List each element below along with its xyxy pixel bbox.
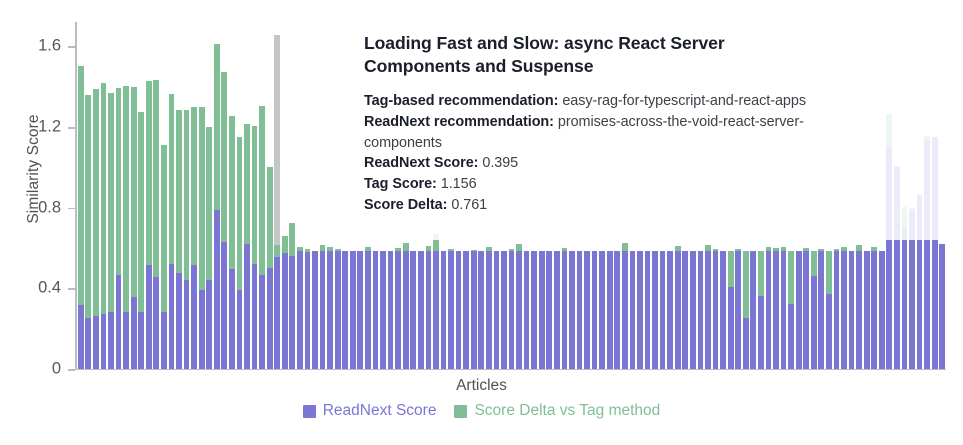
bar-segment-readnext (516, 251, 522, 369)
bar-column[interactable] (131, 22, 137, 369)
legend-item[interactable]: ReadNext Score (303, 402, 437, 420)
bar-column[interactable] (902, 22, 908, 369)
bar-segment-delta (758, 251, 764, 296)
bar-segment-readnext (191, 265, 197, 369)
bar-segment-delta (743, 251, 749, 318)
bar-column[interactable] (153, 22, 159, 369)
bar-segment-readnext (652, 251, 658, 369)
bar-segment-delta (161, 145, 167, 311)
bar-segment-readnext (327, 251, 333, 369)
bar-column[interactable] (274, 22, 280, 369)
bar-segment-readnext (101, 314, 107, 369)
y-axis-tick-mark (68, 46, 75, 48)
bar-segment-delta (176, 110, 182, 273)
bar-segment-readnext (350, 251, 356, 369)
bar-segment-delta (169, 94, 175, 264)
bar-column[interactable] (108, 22, 114, 369)
bar-segment-readnext (864, 251, 870, 369)
bar-segment-delta (78, 66, 84, 305)
bar-segment-delta (199, 107, 205, 291)
bar-segment-delta (85, 95, 91, 318)
bar-segment-delta (116, 88, 122, 276)
bar-segment-readnext (902, 229, 908, 369)
bar-segment-readnext (660, 251, 666, 369)
y-axis-tick-label: 0 (52, 360, 61, 379)
chart-tooltip: Loading Fast and Slow: async React Serve… (364, 24, 856, 215)
bar-segment-readnext (335, 251, 341, 369)
bar-segment-delta (146, 81, 152, 266)
y-axis-tick-label: 0.4 (38, 279, 61, 298)
tooltip-row-label: Score Delta: (364, 197, 447, 213)
bar-column[interactable] (335, 22, 341, 369)
bar-segment-readnext (577, 251, 583, 369)
bar-segment-readnext (85, 318, 91, 369)
bar-segment-delta (101, 83, 107, 314)
bar-segment-delta (184, 110, 190, 280)
tooltip-row: Tag Score: 1.156 (364, 174, 856, 195)
bar-segment-readnext (788, 304, 794, 369)
bar-column[interactable] (123, 22, 129, 369)
bar-segment-readnext (735, 251, 741, 369)
bar-segment-readnext (486, 251, 492, 369)
bar-segment-delta (123, 86, 129, 312)
y-axis-tick-label: 1.2 (38, 117, 61, 136)
bar-segment-readnext (93, 316, 99, 369)
bar-column[interactable] (101, 22, 107, 369)
y-axis-tick-label: 1.6 (38, 37, 61, 56)
bar-segment-readnext (410, 251, 416, 369)
bar-column[interactable] (932, 22, 938, 369)
bar-segment-readnext (705, 251, 711, 369)
bar-segment-readnext (818, 251, 824, 369)
bar-segment-readnext (849, 251, 855, 369)
bar-segment-readnext (826, 294, 832, 369)
bar-column[interactable] (184, 22, 190, 369)
bar-segment-readnext (312, 251, 318, 369)
bar-column[interactable] (191, 22, 197, 369)
bar-column[interactable] (879, 22, 885, 369)
bar-column[interactable] (138, 22, 144, 369)
bar-segment-readnext (720, 251, 726, 369)
bar-segment-readnext (448, 251, 454, 369)
bar-column[interactable] (244, 22, 250, 369)
bar-column[interactable] (78, 22, 84, 369)
bar-segment-delta (108, 93, 114, 312)
bar-segment-delta (403, 243, 409, 251)
bar-segment-readnext (531, 251, 537, 369)
bar-segment-delta (252, 126, 258, 264)
bar-segment-delta (131, 87, 137, 298)
bar-segment-readnext (569, 251, 575, 369)
bar-segment-delta (153, 80, 159, 278)
bar-segment-delta (191, 107, 197, 265)
bar-segment-readnext (289, 256, 295, 369)
bar-segment-readnext (811, 276, 817, 369)
bar-column[interactable] (342, 22, 348, 369)
bar-column[interactable] (871, 22, 877, 369)
tooltip-title: Loading Fast and Slow: async React Serve… (364, 32, 794, 77)
bar-column[interactable] (146, 22, 152, 369)
bar-segment-readnext (418, 251, 424, 369)
bar-segment-readnext (562, 251, 568, 369)
tooltip-rows: Tag-based recommendation: easy-rag-for-t… (364, 91, 856, 215)
bar-segment-delta (229, 116, 235, 269)
bar-segment-readnext (645, 251, 651, 369)
tooltip-row-value: 0.395 (478, 155, 518, 171)
bar-segment-readnext (116, 275, 122, 369)
bar-segment-readnext (879, 251, 885, 369)
bar-segment-readnext (781, 251, 787, 369)
bar-segment-delta (788, 251, 794, 304)
bar-segment-readnext (758, 296, 764, 369)
bar-segment-readnext (675, 251, 681, 369)
x-axis-title: Articles (0, 377, 963, 395)
bar-column[interactable] (93, 22, 99, 369)
bar-column[interactable] (116, 22, 122, 369)
bar-segment-readnext (441, 251, 447, 369)
bar-segment-delta (516, 244, 522, 251)
bar-column[interactable] (917, 22, 923, 369)
bar-column[interactable] (252, 22, 258, 369)
bar-segment-readnext (131, 297, 137, 369)
bar-segment-delta (221, 72, 227, 241)
bar-segment-readnext (622, 251, 628, 369)
bar-segment-readnext (153, 277, 159, 369)
bar-column[interactable] (856, 22, 862, 369)
bar-segment-delta (206, 127, 212, 280)
tooltip-row-value: 0.761 (447, 197, 487, 213)
chart-legend[interactable]: ReadNext ScoreScore Delta vs Tag method (0, 402, 963, 420)
bar-segment-readnext (728, 287, 734, 369)
bar-column[interactable] (320, 22, 326, 369)
bar-segment-readnext (501, 251, 507, 369)
bar-segment-delta (267, 167, 273, 268)
bar-segment-readnext (463, 251, 469, 369)
bar-segment-readnext (592, 251, 598, 369)
bar-segment-readnext (471, 251, 477, 369)
bar-segment-readnext (380, 251, 386, 369)
bar-segment-readnext (237, 290, 243, 369)
bar-segment-readnext (78, 305, 84, 369)
tooltip-row: ReadNext Score: 0.395 (364, 153, 856, 174)
bar-segment-readnext (894, 167, 900, 369)
bar-column[interactable] (199, 22, 205, 369)
bar-segment-readnext (229, 269, 235, 369)
bar-segment-delta (259, 106, 265, 275)
bar-segment-delta (138, 112, 144, 312)
y-axis-tick-mark (68, 369, 75, 371)
bar-segment-readnext (161, 312, 167, 369)
bar-segment-readnext (690, 251, 696, 369)
legend-swatch-icon (454, 405, 467, 418)
tooltip-row: Tag-based recommendation: easy-rag-for-t… (364, 91, 856, 112)
bar-segment-readnext (509, 251, 515, 369)
bar-segment-delta (622, 243, 628, 251)
tooltip-row-label: ReadNext recommendation: (364, 114, 554, 130)
bar-segment-readnext (584, 251, 590, 369)
bar-segment-readnext (199, 290, 205, 369)
bar-segment-readnext (221, 242, 227, 369)
bar-segment-readnext (123, 312, 129, 369)
bar-segment-readnext (478, 251, 484, 369)
bar-segment-delta (289, 223, 295, 256)
bar-column[interactable] (267, 22, 273, 369)
bar-segment-readnext (342, 251, 348, 369)
bar-segment-readnext (169, 264, 175, 369)
tooltip-row-value: 1.156 (437, 176, 477, 192)
bar-column[interactable] (282, 22, 288, 369)
bar-segment-readnext (667, 251, 673, 369)
bar-segment-readnext (773, 251, 779, 369)
bar-segment-readnext (539, 251, 545, 369)
bar-segment-readnext (395, 251, 401, 369)
legend-item[interactable]: Score Delta vs Tag method (454, 402, 660, 420)
bar-column[interactable] (161, 22, 167, 369)
bar-segment-readnext (320, 251, 326, 369)
bar-segment-readnext (939, 244, 945, 369)
bar-segment-readnext (766, 251, 772, 369)
bar-column[interactable] (297, 22, 303, 369)
y-axis-tick-mark (68, 127, 75, 129)
bar-column[interactable] (214, 22, 220, 369)
bar-column[interactable] (924, 22, 930, 369)
bar-column[interactable] (259, 22, 265, 369)
tooltip-row-value: easy-rag-for-typescript-and-react-apps (558, 93, 806, 109)
bar-segment-readnext (494, 251, 500, 369)
bar-segment-delta (282, 236, 288, 253)
bar-segment-readnext (607, 251, 613, 369)
bar-column[interactable] (909, 22, 915, 369)
bar-segment-readnext (365, 251, 371, 369)
bar-segment-readnext (214, 210, 220, 369)
bar-segment-readnext (871, 251, 877, 369)
bar-column[interactable] (894, 22, 900, 369)
bar-segment-readnext (138, 312, 144, 369)
bar-segment-readnext (924, 140, 930, 369)
bar-column[interactable] (176, 22, 182, 369)
chart-root: Similarity Score 00.40.81.21.6 Articles … (0, 0, 963, 445)
bar-segment-readnext (698, 251, 704, 369)
bar-column[interactable] (886, 22, 892, 369)
bar-segment-readnext (305, 252, 311, 369)
bar-segment-readnext (796, 251, 802, 369)
bar-segment-readnext (546, 251, 552, 369)
bar-segment-delta (826, 251, 832, 294)
tooltip-row: ReadNext recommendation: promises-across… (364, 112, 856, 153)
y-axis-tick-mark (68, 288, 75, 290)
y-axis-title: Similarity Score (25, 19, 43, 319)
bar-segment-readnext (252, 264, 258, 369)
tooltip-row-label: ReadNext Score: (364, 155, 478, 171)
bar-segment-readnext (599, 251, 605, 369)
bar-segment-readnext (433, 251, 439, 369)
y-axis-tick-mark (68, 208, 75, 210)
bar-column[interactable] (221, 22, 227, 369)
bar-segment-readnext (841, 251, 847, 369)
bar-segment-delta (244, 124, 250, 244)
bar-column[interactable] (327, 22, 333, 369)
bar-column[interactable] (289, 22, 295, 369)
bar-segment-delta (214, 44, 220, 209)
bar-column[interactable] (312, 22, 318, 369)
bar-column[interactable] (229, 22, 235, 369)
bar-segment-readnext (297, 251, 303, 369)
bar-segment-readnext (803, 251, 809, 369)
bar-segment-readnext (108, 312, 114, 369)
bar-segment-readnext (357, 251, 363, 369)
bar-segment-readnext (176, 273, 182, 369)
bar-segment-readnext (614, 251, 620, 369)
legend-swatch-icon (303, 405, 316, 418)
bar-segment-delta (902, 207, 908, 229)
bar-segment-readnext (244, 244, 250, 369)
tooltip-row-label: Tag-based recommendation: (364, 93, 558, 109)
bar-segment-readnext (456, 251, 462, 369)
bar-segment-readnext (373, 251, 379, 369)
bar-segment-readnext (750, 251, 756, 369)
bar-segment-readnext (146, 265, 152, 369)
bar-column[interactable] (169, 22, 175, 369)
bar-segment-readnext (917, 195, 923, 370)
bar-segment-delta (811, 251, 817, 276)
legend-item-label: Score Delta vs Tag method (474, 402, 660, 420)
bar-segment-readnext (743, 318, 749, 369)
bar-segment-readnext (909, 210, 915, 369)
bar-segment-readnext (206, 280, 212, 369)
bar-segment-readnext (713, 251, 719, 369)
bar-segment-delta (886, 114, 892, 147)
bar-segment-delta (274, 245, 280, 257)
bar-column[interactable] (939, 22, 945, 369)
bar-segment-readnext (834, 251, 840, 369)
bar-column[interactable] (237, 22, 243, 369)
bar-segment-readnext (630, 251, 636, 369)
bar-column[interactable] (357, 22, 363, 369)
bar-segment-delta (433, 234, 439, 251)
bar-column[interactable] (206, 22, 212, 369)
bar-segment-readnext (274, 257, 280, 369)
bar-segment-readnext (426, 251, 432, 369)
bar-column[interactable] (864, 22, 870, 369)
bar-segment-readnext (524, 251, 530, 369)
bar-segment-readnext (403, 251, 409, 369)
bar-segment-readnext (259, 275, 265, 369)
bar-segment-readnext (637, 251, 643, 369)
y-axis-tick-label: 0.8 (38, 198, 61, 217)
bar-segment-readnext (932, 137, 938, 369)
bar-segment-delta (237, 137, 243, 290)
bar-column[interactable] (85, 22, 91, 369)
tooltip-row-label: Tag Score: (364, 176, 437, 192)
bar-column[interactable] (305, 22, 311, 369)
bar-segment-readnext (184, 280, 190, 369)
bar-segment-readnext (886, 147, 892, 369)
tooltip-row: Score Delta: 0.761 (364, 195, 856, 216)
bar-column[interactable] (350, 22, 356, 369)
bar-segment-readnext (267, 268, 273, 369)
bar-segment-readnext (388, 251, 394, 369)
bar-segment-readnext (856, 251, 862, 369)
legend-item-label: ReadNext Score (323, 402, 437, 420)
bar-segment-readnext (554, 251, 560, 369)
bar-segment-delta (93, 89, 99, 316)
bar-segment-readnext (282, 253, 288, 369)
bar-segment-readnext (682, 251, 688, 369)
bar-segment-delta (728, 251, 734, 287)
